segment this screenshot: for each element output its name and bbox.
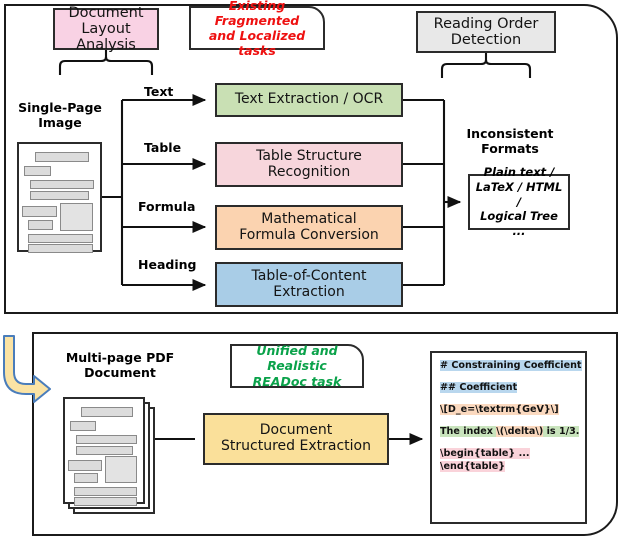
branch-label-text: Text bbox=[144, 84, 173, 99]
page-text-bar bbox=[28, 234, 93, 243]
task-box-formula-conversion: MathematicalFormula Conversion bbox=[215, 205, 403, 250]
single-page-image-caption: Single-PageImage bbox=[12, 100, 108, 130]
page-text-bar bbox=[74, 487, 137, 496]
page-text-bar bbox=[28, 244, 93, 253]
output-text: \[D_e=\textrm{GeV}\] bbox=[440, 404, 559, 415]
reading-order-detection-box: Reading OrderDetection bbox=[416, 11, 556, 53]
page-text-bar bbox=[24, 166, 51, 176]
structured-output-box: # Constraining Coefficient ## Coefficien… bbox=[430, 351, 587, 524]
task-box-table-structure: Table StructureRecognition bbox=[215, 142, 403, 187]
document-layout-analysis-box: DocumentLayout Analysis bbox=[53, 8, 159, 50]
page-text-bar bbox=[81, 407, 133, 417]
existing-tasks-label: Existing Fragmentedand Localized tasks bbox=[191, 0, 323, 59]
output-line-heading1: # Constraining Coefficient bbox=[440, 360, 577, 372]
task-label: Text Extraction / OCR bbox=[233, 92, 385, 108]
page-text-bar bbox=[76, 435, 137, 444]
page-text-bar bbox=[35, 152, 89, 162]
output-text: ## Coefficient bbox=[440, 382, 517, 393]
page-image-block bbox=[60, 203, 93, 231]
output-text-prefix: The index bbox=[440, 426, 496, 437]
multipage-pdf-caption: Multi-page PDFDocument bbox=[60, 350, 180, 380]
task-label: MathematicalFormula Conversion bbox=[237, 212, 381, 243]
task-box-toc-extraction: Table-of-ContentExtraction bbox=[215, 262, 403, 307]
page-text-bar bbox=[68, 460, 102, 471]
reading-order-detection-label: Reading OrderDetection bbox=[432, 16, 541, 48]
page-text-bar bbox=[22, 206, 57, 217]
page-text-bar bbox=[28, 220, 53, 230]
single-page-thumbnail bbox=[17, 142, 102, 252]
output-line-table-begin: \begin{table} ... bbox=[440, 448, 577, 460]
task-box-text-extraction: Text Extraction / OCR bbox=[215, 83, 403, 117]
document-structured-extraction-label: DocumentStructured Extraction bbox=[219, 423, 373, 454]
inconsistent-formats-caption: InconsistentFormats bbox=[450, 126, 570, 156]
output-text: \end{table} bbox=[440, 461, 505, 472]
unified-task-label: Unified and RealisticREADoc task bbox=[232, 343, 362, 389]
task-label: Table-of-ContentExtraction bbox=[250, 269, 369, 300]
unified-task-callout: Unified and RealisticREADoc task bbox=[230, 344, 364, 388]
page-text-bar bbox=[70, 421, 96, 431]
diagram-canvas: DocumentLayout Analysis Existing Fragmen… bbox=[0, 0, 624, 540]
output-text-suffix: is 1/3. bbox=[543, 426, 579, 437]
document-layout-analysis-label: DocumentLayout Analysis bbox=[55, 5, 157, 54]
document-structured-extraction-box: DocumentStructured Extraction bbox=[203, 413, 389, 465]
inconsistent-formats-label: Plain text /LaTeX / HTML /Logical Tree .… bbox=[470, 165, 568, 240]
inconsistent-formats-box: Plain text /LaTeX / HTML /Logical Tree .… bbox=[468, 174, 570, 230]
output-text: \begin{table} ... bbox=[440, 448, 530, 459]
output-line-inline: The index \(\delta\) is 1/3. bbox=[440, 426, 577, 438]
output-line-heading2: ## Coefficient bbox=[440, 382, 577, 394]
branch-label-table: Table bbox=[144, 140, 181, 155]
multipage-pdf-thumbnail bbox=[63, 397, 145, 504]
task-label: Table StructureRecognition bbox=[254, 149, 364, 180]
page-text-bar bbox=[74, 497, 137, 506]
page-text-bar bbox=[30, 180, 94, 189]
page-image-block bbox=[105, 456, 137, 483]
output-line-table-end: \end{table} bbox=[440, 461, 577, 473]
output-text-delta: \(\delta\) bbox=[496, 426, 543, 437]
output-line-formula: \[D_e=\textrm{GeV}\] bbox=[440, 404, 577, 416]
branch-label-heading: Heading bbox=[138, 257, 196, 272]
existing-tasks-callout: Existing Fragmentedand Localized tasks bbox=[189, 6, 325, 50]
page-text-bar bbox=[30, 191, 89, 200]
page-text-bar bbox=[76, 446, 133, 455]
page-text-bar bbox=[74, 473, 98, 483]
branch-label-formula: Formula bbox=[138, 199, 195, 214]
output-text: # Constraining Coefficient bbox=[440, 360, 582, 371]
